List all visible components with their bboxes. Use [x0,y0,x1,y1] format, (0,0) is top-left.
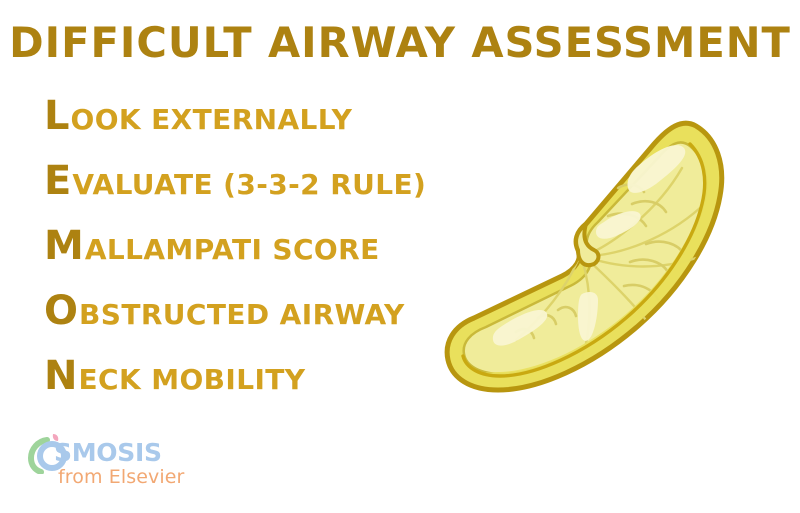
lemon-wedge-illustration [432,104,742,404]
mnemonic-text-l: ook externally [71,106,353,134]
poster-canvas: Difficult Airway Assessment L ook extern… [0,0,800,513]
list-item: M allampati score [44,226,464,291]
osmosis-tagline: from Elsevier [58,468,184,487]
osmosis-wordmark: SMOSIS [54,440,162,465]
mnemonic-text-m: allampati score [85,236,380,264]
mnemonic-letter-o: O [44,291,78,331]
mnemonic-text-e: valuate (3-3-2 rule) [72,171,426,199]
mnemonic-letter-e: E [44,161,71,201]
list-item: O bstructed airway [44,291,464,356]
mnemonic-letter-n: N [44,356,77,396]
mnemonic-letter-l: L [44,96,70,136]
list-item: N eck mobility [44,356,464,421]
list-item: L ook externally [44,96,464,161]
list-item: E valuate (3-3-2 rule) [44,161,464,226]
mnemonic-text-o: bstructed airway [79,301,405,329]
osmosis-logo: SMOSIS from Elsevier [26,430,226,492]
mnemonic-letter-m: M [44,226,84,266]
mnemonic-list: L ook externally E valuate (3-3-2 rule) … [44,96,464,421]
mnemonic-text-n: eck mobility [78,366,305,394]
page-title: Difficult Airway Assessment [4,18,796,67]
